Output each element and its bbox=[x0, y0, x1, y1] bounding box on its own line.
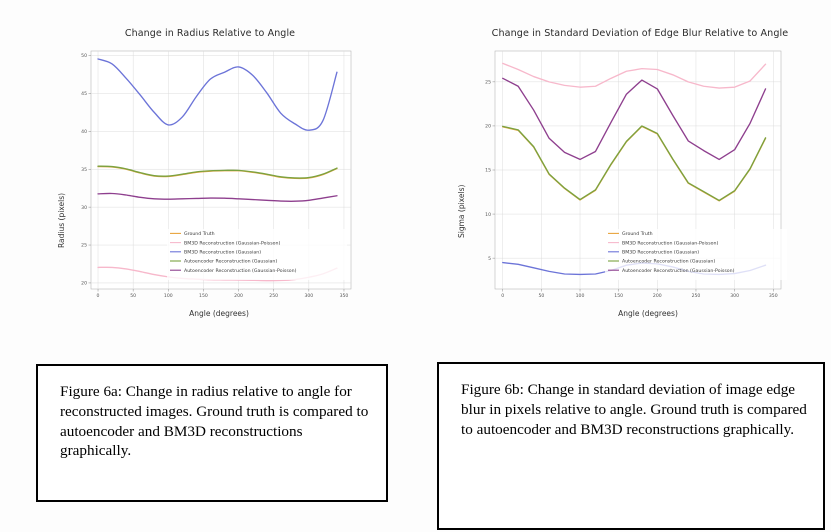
svg-text:25: 25 bbox=[485, 80, 491, 86]
chart-b-plot-area: Sigma (pixels) 5101520250501001502002503… bbox=[455, 43, 825, 313]
svg-text:50: 50 bbox=[130, 293, 136, 299]
chart-b-svg: 510152025050100150200250300350Ground Tru… bbox=[455, 43, 825, 313]
svg-text:250: 250 bbox=[692, 293, 701, 299]
figure-6a-caption-box: Figure 6a: Change in radius relative to … bbox=[36, 364, 388, 502]
svg-text:10: 10 bbox=[485, 212, 491, 218]
svg-text:Autoencoder Reconstruction (Ga: Autoencoder Reconstruction (Gaussian-Poi… bbox=[622, 268, 735, 274]
svg-text:BM3D Reconstruction (Gaussian): BM3D Reconstruction (Gaussian) bbox=[622, 250, 699, 256]
svg-text:25: 25 bbox=[81, 243, 87, 249]
svg-text:0: 0 bbox=[97, 293, 100, 299]
svg-text:150: 150 bbox=[614, 293, 623, 299]
chart-b-title: Change in Standard Deviation of Edge Blu… bbox=[455, 28, 825, 39]
svg-text:45: 45 bbox=[81, 91, 87, 97]
chart-a-y-axis-label: Radius (pixels) bbox=[57, 193, 66, 248]
svg-text:5: 5 bbox=[488, 256, 491, 262]
chart-a-plot-area: Radius (pixels) 202530354045500501001502… bbox=[55, 43, 365, 313]
svg-text:Autoencoder Reconstruction (Ga: Autoencoder Reconstruction (Gaussian-Poi… bbox=[184, 268, 297, 274]
chart-b-y-axis-label: Sigma (pixels) bbox=[457, 185, 466, 238]
chart-a-title: Change in Radius Relative to Angle bbox=[55, 28, 365, 39]
svg-text:Ground Truth: Ground Truth bbox=[184, 231, 215, 237]
svg-text:200: 200 bbox=[653, 293, 662, 299]
svg-text:40: 40 bbox=[81, 129, 87, 135]
svg-text:350: 350 bbox=[340, 293, 349, 299]
svg-text:50: 50 bbox=[81, 53, 87, 59]
figure-6a-caption-text: Figure 6a: Change in radius relative to … bbox=[60, 382, 372, 461]
svg-text:0: 0 bbox=[501, 293, 504, 299]
svg-text:30: 30 bbox=[81, 205, 87, 211]
chart-a-svg: 20253035404550050100150200250300350Groun… bbox=[55, 43, 365, 313]
document-page: Change in Radius Relative to Angle Radiu… bbox=[0, 0, 831, 532]
figure-6a-chart: Change in Radius Relative to Angle Radiu… bbox=[55, 28, 365, 348]
svg-text:50: 50 bbox=[538, 293, 544, 299]
svg-text:100: 100 bbox=[576, 293, 585, 299]
svg-text:BM3D Reconstruction (Gaussian-: BM3D Reconstruction (Gaussian-Poisson) bbox=[622, 240, 718, 246]
svg-text:35: 35 bbox=[81, 167, 87, 173]
figure-6b-caption-text: Figure 6b: Change in standard deviation … bbox=[461, 380, 809, 439]
figure-6b-chart: Change in Standard Deviation of Edge Blu… bbox=[455, 28, 825, 348]
svg-text:300: 300 bbox=[730, 293, 739, 299]
svg-text:250: 250 bbox=[269, 293, 278, 299]
svg-text:20: 20 bbox=[81, 281, 87, 287]
svg-text:15: 15 bbox=[485, 168, 491, 174]
svg-text:Autoencoder Reconstruction (Ga: Autoencoder Reconstruction (Gaussian) bbox=[184, 259, 277, 265]
figure-6b-caption-box: Figure 6b: Change in standard deviation … bbox=[437, 362, 825, 530]
svg-text:350: 350 bbox=[769, 293, 778, 299]
svg-text:20: 20 bbox=[485, 124, 491, 130]
svg-text:300: 300 bbox=[304, 293, 313, 299]
svg-text:150: 150 bbox=[199, 293, 208, 299]
svg-text:Autoencoder Reconstruction (Ga: Autoencoder Reconstruction (Gaussian) bbox=[622, 259, 715, 265]
svg-text:200: 200 bbox=[234, 293, 243, 299]
svg-text:BM3D Reconstruction (Gaussian): BM3D Reconstruction (Gaussian) bbox=[184, 250, 261, 256]
svg-text:BM3D Reconstruction (Gaussian-: BM3D Reconstruction (Gaussian-Poisson) bbox=[184, 240, 280, 246]
svg-text:100: 100 bbox=[164, 293, 173, 299]
svg-text:Ground Truth: Ground Truth bbox=[622, 231, 653, 237]
